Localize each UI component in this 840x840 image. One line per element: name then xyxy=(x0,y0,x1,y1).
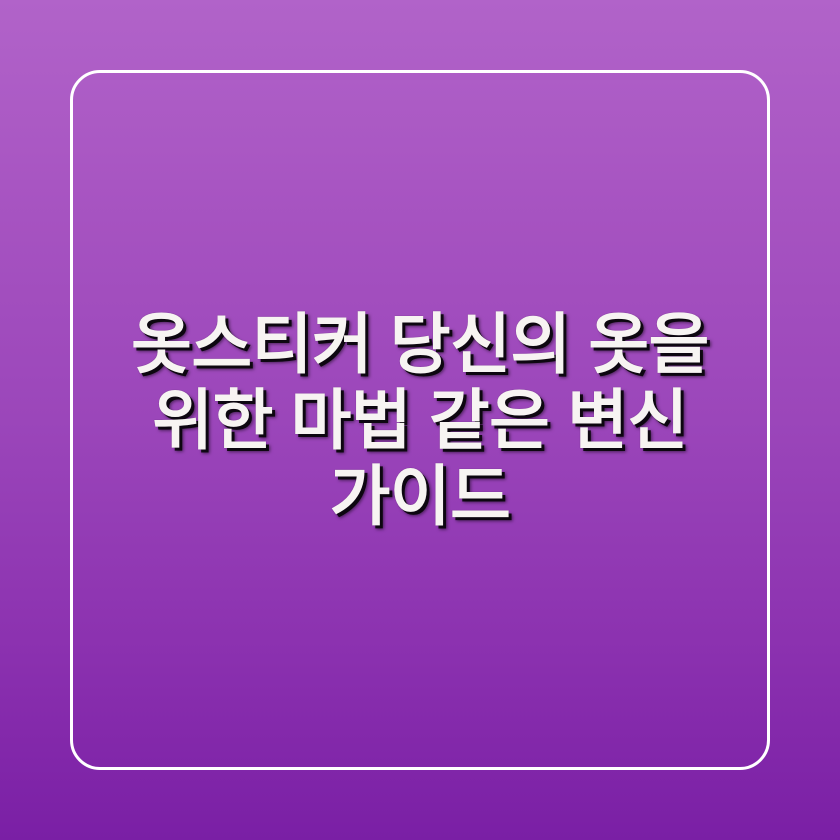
title-line-3: 가이드 xyxy=(131,458,709,534)
title-line-2: 위한 마법 같은 변신 xyxy=(131,382,709,458)
title-line-1: 옷스티커 당신의 옷을 xyxy=(131,306,709,382)
page-title: 옷스티커 당신의 옷을 위한 마법 같은 변신 가이드 xyxy=(131,306,709,534)
poster-canvas: 옷스티커 당신의 옷을 위한 마법 같은 변신 가이드 xyxy=(0,0,840,840)
headline-container: 옷스티커 당신의 옷을 위한 마법 같은 변신 가이드 xyxy=(0,0,840,840)
